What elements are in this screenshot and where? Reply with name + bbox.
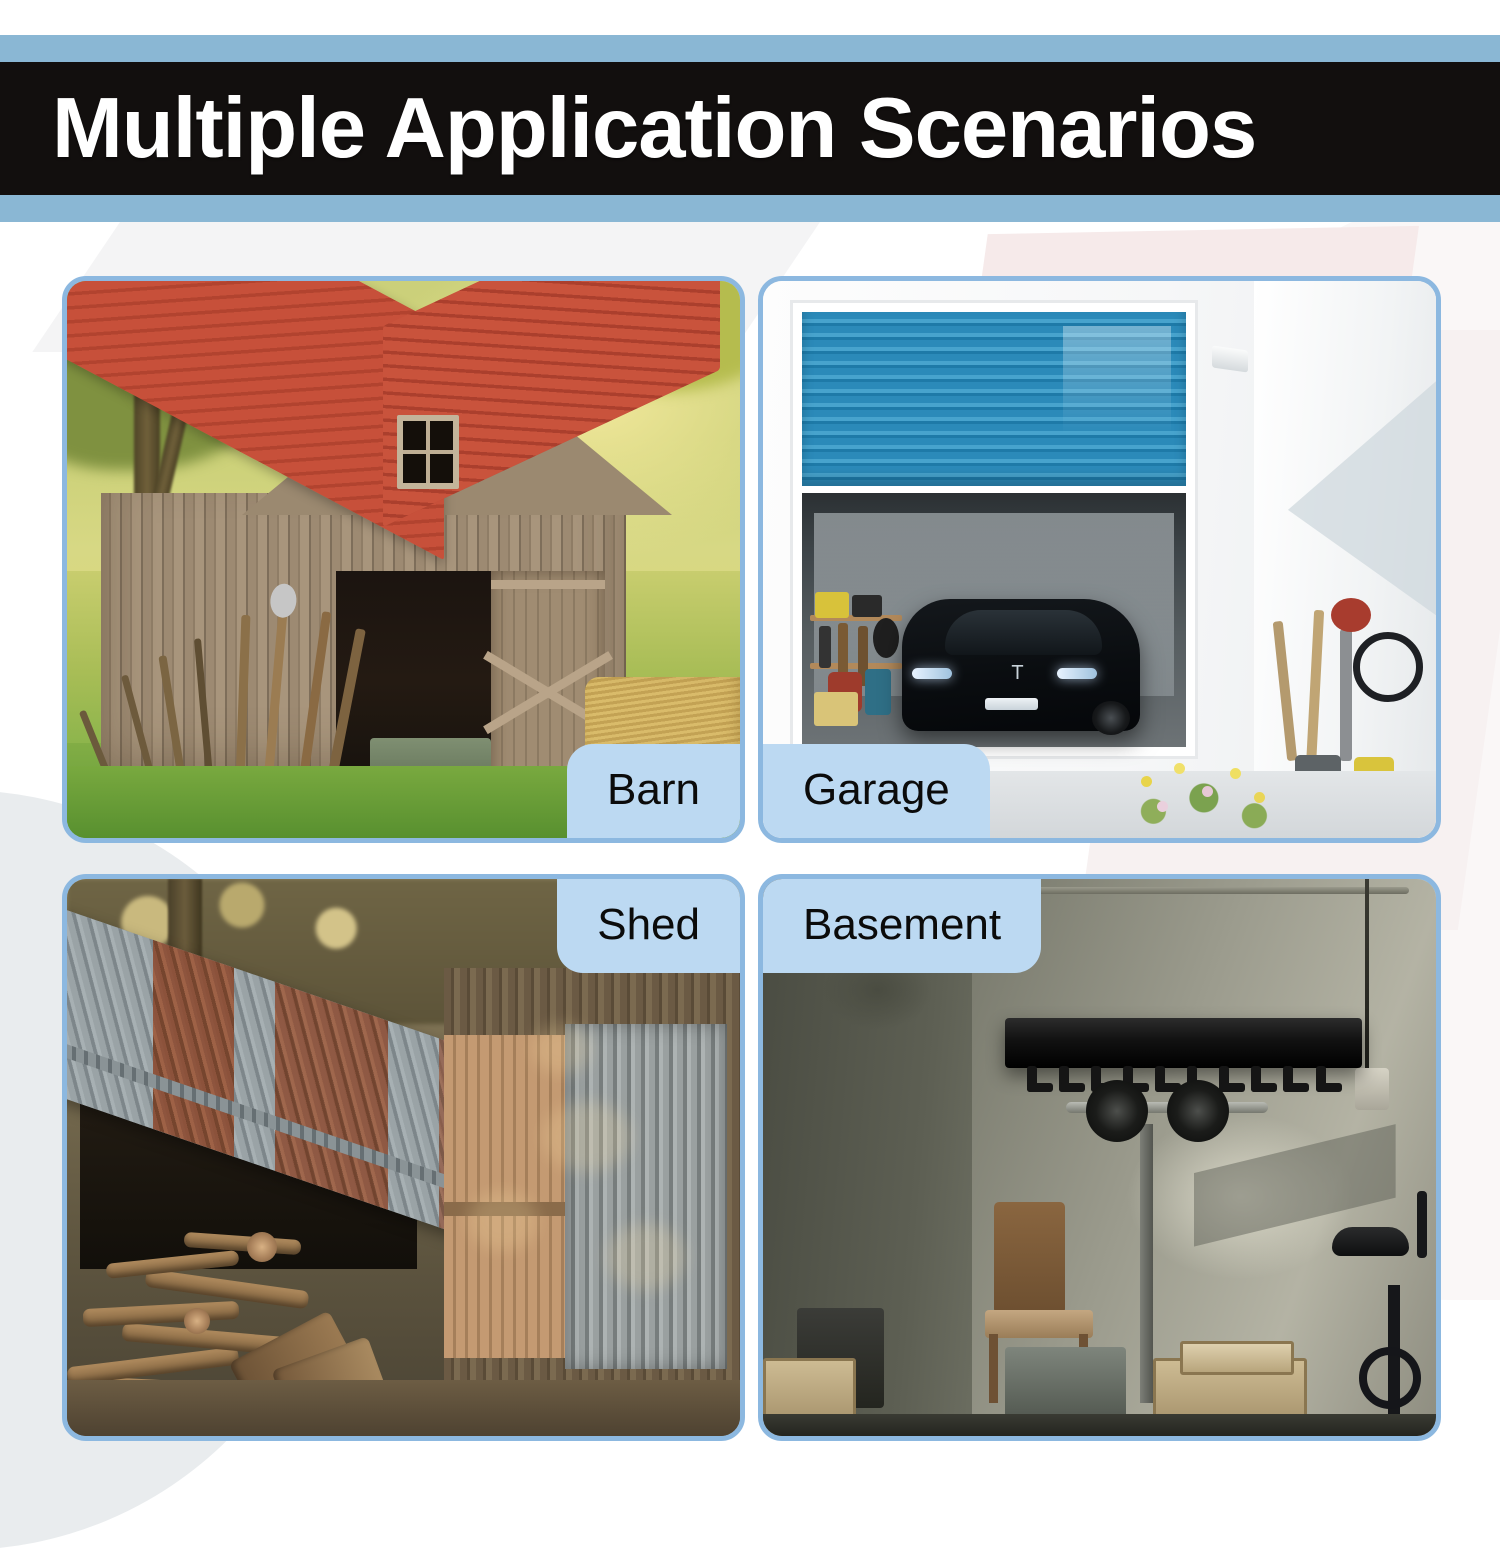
wall-socket xyxy=(1355,1068,1389,1110)
garage-tool-wall xyxy=(810,589,902,731)
shed-photo: Shed xyxy=(67,879,740,1436)
license-plate xyxy=(985,698,1037,710)
barbell-stand xyxy=(1140,1124,1153,1403)
header-banner: Multiple Application Scenarios xyxy=(0,35,1500,222)
scenario-panel-garage[interactable]: T xyxy=(758,276,1441,843)
garage-door-opening: T xyxy=(793,303,1195,755)
exercise-bike xyxy=(1288,1191,1436,1414)
barn-photo: Barn xyxy=(67,281,740,838)
basement-photo: Basement xyxy=(763,879,1436,1436)
shed-metal-door xyxy=(565,1024,727,1369)
garage-wall-lamp xyxy=(1212,345,1248,372)
panel-label-barn: Barn xyxy=(567,744,740,838)
garage-flower-bed xyxy=(1113,749,1315,838)
weight-plate xyxy=(1086,1080,1148,1142)
page-title: Multiple Application Scenarios xyxy=(52,86,1256,171)
weight-plate xyxy=(1167,1080,1229,1142)
scenario-panel-barn[interactable]: Barn xyxy=(62,276,745,843)
garage-photo: T xyxy=(763,281,1436,838)
panel-label-garage: Garage xyxy=(763,744,990,838)
header-bar: Multiple Application Scenarios xyxy=(0,62,1500,195)
wall-mounted-tool-rail xyxy=(1005,1018,1362,1068)
panel-label-basement: Basement xyxy=(763,879,1041,973)
scenario-grid: Barn xyxy=(62,276,1441,1441)
storage-crate xyxy=(1180,1341,1294,1375)
barn-window xyxy=(397,415,459,489)
scenario-panel-basement[interactable]: Basement xyxy=(758,874,1441,1441)
garage-roller-shutter xyxy=(802,312,1186,486)
scenario-panel-shed[interactable]: Shed xyxy=(62,874,745,1441)
panel-label-shed: Shed xyxy=(557,879,740,973)
garage-car: T xyxy=(902,599,1140,731)
car-badge-icon: T xyxy=(1011,663,1033,685)
